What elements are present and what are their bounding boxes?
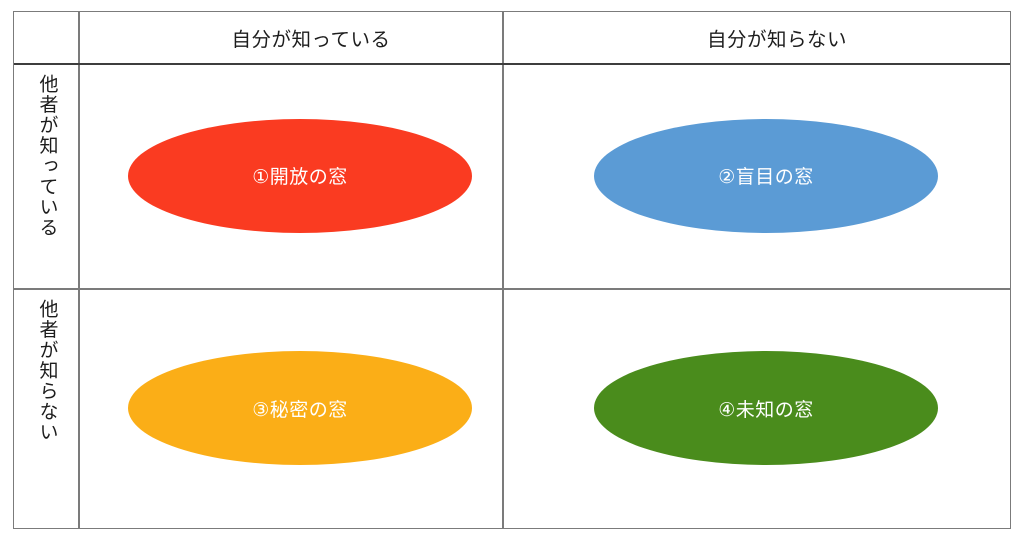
quadrant-cell-hidden: ③秘密の窓	[78, 288, 544, 528]
quadrant-cell-open: ①開放の窓	[78, 63, 544, 288]
row-label-others-known: 他者が知っている	[33, 74, 60, 238]
column-header-self-unknown: 自分が知らない	[544, 12, 1010, 63]
table-header-row: 自分が知っている 自分が知らない	[14, 12, 1010, 63]
row-label-vertical-text-wrapper: 他者が知らない	[14, 299, 78, 443]
ellipse-hidden-window[interactable]: ③秘密の窓	[128, 351, 472, 465]
johari-window-table: 自分が知っている 自分が知らない 他者が知っている ①開放の窓 ②盲目の窓 他者…	[13, 11, 1011, 529]
row-header-others-known: 他者が知っている	[14, 63, 78, 288]
quadrant-cell-blind: ②盲目の窓	[544, 63, 1010, 288]
ellipse-open-window[interactable]: ①開放の窓	[128, 119, 472, 233]
quadrant-cell-unknown: ④未知の窓	[544, 288, 1010, 528]
row-label-others-unknown: 他者が知らない	[33, 299, 60, 443]
row-header-others-unknown: 他者が知らない	[14, 288, 78, 528]
column-header-self-known: 自分が知っている	[78, 12, 544, 63]
row-label-vertical-text-wrapper: 他者が知っている	[14, 74, 78, 238]
table-row: 他者が知らない ③秘密の窓 ④未知の窓	[14, 288, 1010, 528]
ellipse-unknown-window[interactable]: ④未知の窓	[594, 351, 938, 465]
header-corner-cell	[14, 12, 78, 63]
table-row: 他者が知っている ①開放の窓 ②盲目の窓	[14, 63, 1010, 288]
ellipse-blind-window[interactable]: ②盲目の窓	[594, 119, 938, 233]
